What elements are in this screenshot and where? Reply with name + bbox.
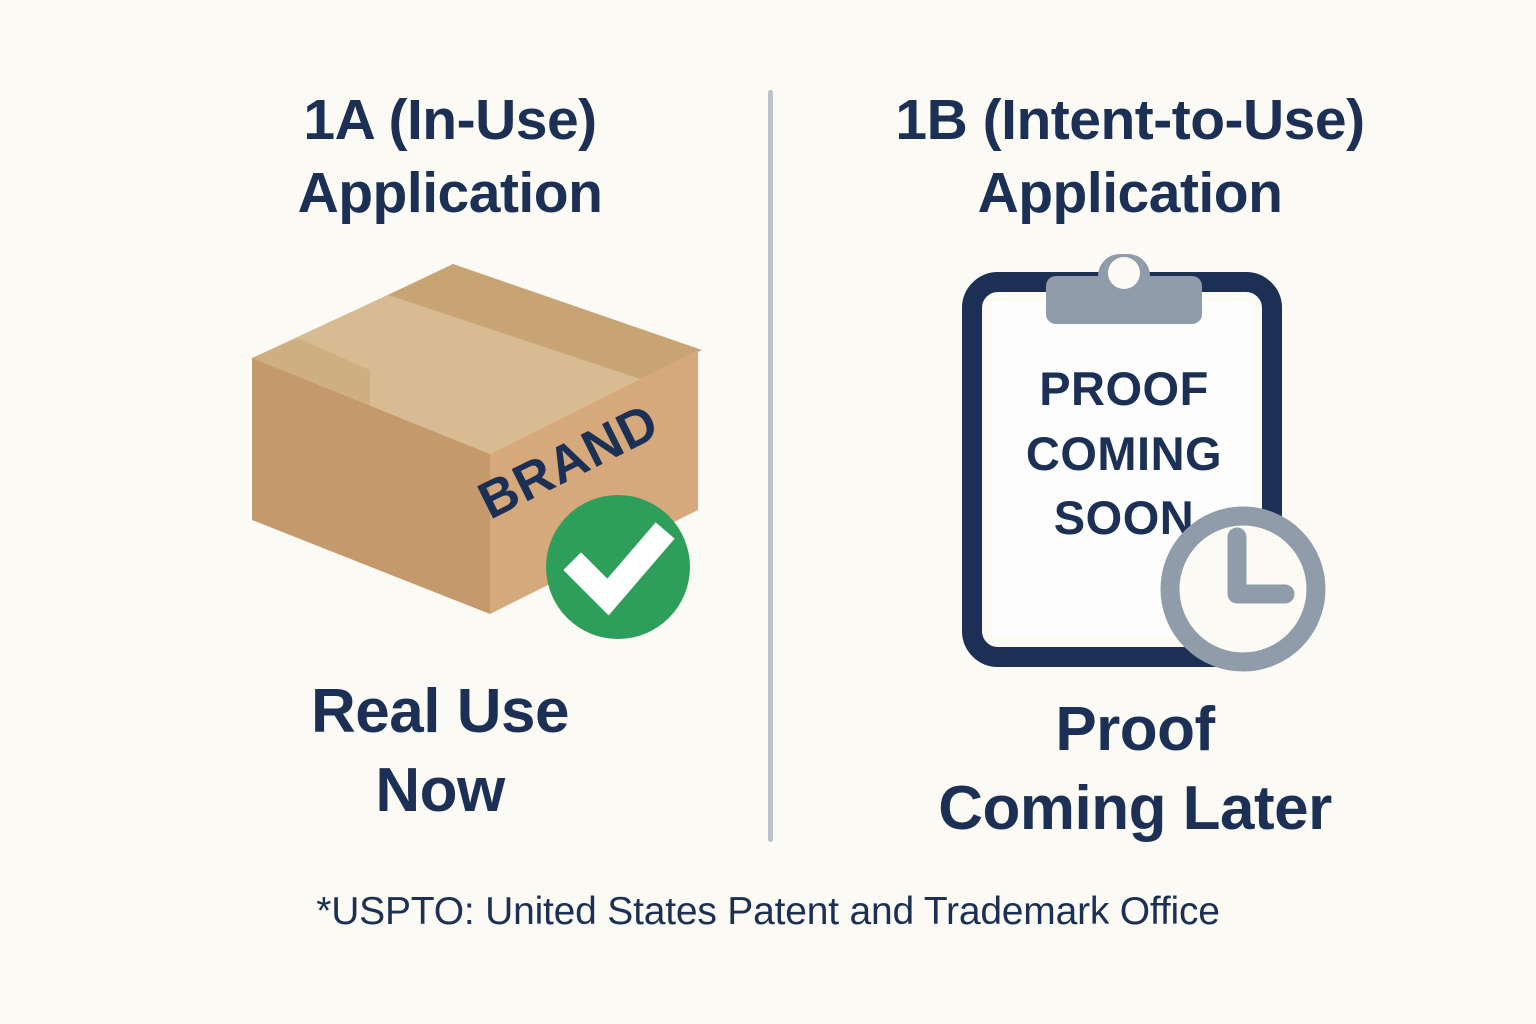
infographic-canvas: 1A (In-Use) Application 1B (Intent-to-Us… (0, 0, 1536, 1024)
heading-1a-line-2: Application (130, 157, 770, 230)
clock-icon (1170, 516, 1316, 662)
caption-right-line-1: Proof (790, 690, 1480, 769)
cardboard-box-illustration: BRAND (240, 258, 710, 658)
heading-1b-line-2: Application (790, 157, 1470, 230)
footnote-uspto: *USPTO: United States Patent and Tradema… (0, 890, 1536, 934)
caption-proof-coming-later: Proof Coming Later (790, 690, 1480, 849)
heading-1a-line-1: 1A (In-Use) (130, 84, 770, 157)
paper-line-1: PROOF (1039, 362, 1209, 415)
heading-1b-line-1: 1B (Intent-to-Use) (790, 84, 1470, 157)
check-icon (546, 495, 690, 639)
heading-1a: 1A (In-Use) Application (130, 84, 770, 230)
caption-right-line-2: Coming Later (790, 769, 1480, 848)
clipboard-illustration: PROOF COMING SOON (940, 262, 1340, 682)
caption-real-use-now: Real Use Now (110, 672, 770, 831)
caption-left-line-1: Real Use (110, 672, 770, 751)
paper-line-3: SOON (1054, 491, 1194, 544)
heading-1b: 1B (Intent-to-Use) Application (790, 84, 1470, 230)
clipboard-clip (1046, 254, 1202, 324)
paper-line-2: COMING (1026, 427, 1222, 480)
clip-hole (1108, 257, 1140, 289)
caption-left-line-2: Now (110, 751, 770, 830)
